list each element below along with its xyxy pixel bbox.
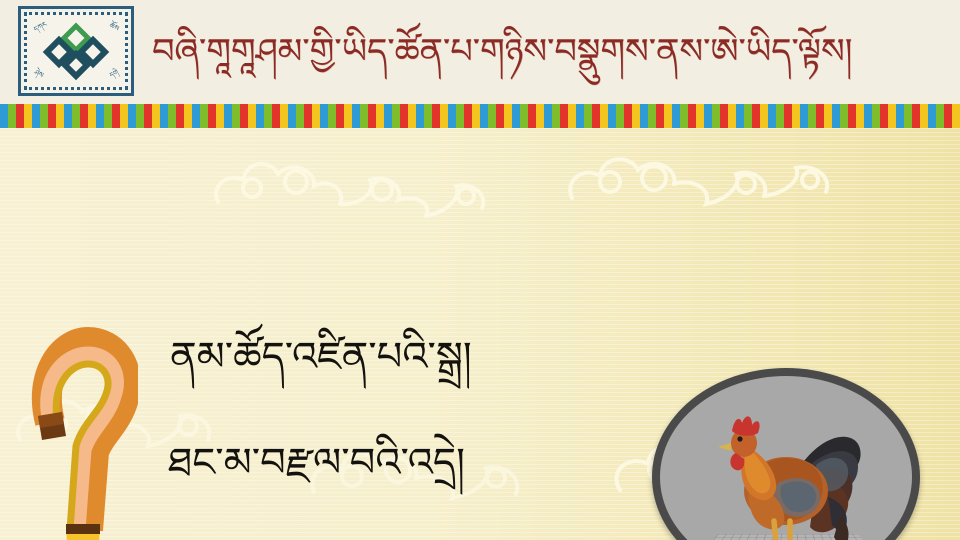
stripe-segment <box>496 104 504 128</box>
stripe-segment <box>504 104 512 128</box>
stripe-segment <box>312 104 320 128</box>
stripe-segment <box>832 104 840 128</box>
stripe-segment <box>456 104 464 128</box>
stripe-unit <box>96 104 128 128</box>
endless-knot-icon <box>41 20 111 82</box>
logo-frame: དཀར ཆོས ཤེས དགེ <box>18 6 134 96</box>
stripe-unit <box>320 104 352 128</box>
stripe-unit <box>832 104 864 128</box>
stripe-segment <box>664 104 672 128</box>
stripe-segment <box>704 104 712 128</box>
stripe-segment <box>752 104 760 128</box>
illustration-frame <box>652 368 920 540</box>
stripe-segment <box>24 104 32 128</box>
stripe-segment <box>16 104 24 128</box>
stripe-unit <box>736 104 768 128</box>
stripe-segment <box>856 104 864 128</box>
prayer-flag-stripe-border <box>0 104 960 128</box>
stripe-segment <box>200 104 208 128</box>
stripe-segment <box>424 104 432 128</box>
stripe-segment <box>264 104 272 128</box>
stripe-segment <box>104 104 112 128</box>
stripe-segment <box>96 104 104 128</box>
stripe-segment <box>296 104 304 128</box>
stripe-segment <box>736 104 744 128</box>
stripe-segment <box>520 104 528 128</box>
stripe-segment <box>80 104 88 128</box>
stripe-unit <box>160 104 192 128</box>
stripe-unit <box>672 104 704 128</box>
stripe-segment <box>792 104 800 128</box>
stripe-segment <box>376 104 384 128</box>
stripe-segment <box>384 104 392 128</box>
stripe-segment <box>584 104 592 128</box>
stripe-unit <box>768 104 800 128</box>
stripe-segment <box>760 104 768 128</box>
stripe-segment <box>568 104 576 128</box>
stripe-segment <box>440 104 448 128</box>
stripe-segment <box>880 104 888 128</box>
stripe-unit <box>544 104 576 128</box>
stripe-unit <box>800 104 832 128</box>
stripe-segment <box>56 104 64 128</box>
stripe-unit <box>288 104 320 128</box>
stripe-unit <box>512 104 544 128</box>
stripe-segment <box>8 104 16 128</box>
stripe-unit <box>704 104 736 128</box>
stripe-segment <box>448 104 456 128</box>
stripe-segment <box>896 104 904 128</box>
stripe-unit <box>224 104 256 128</box>
riddle-line-2: ཐང་མ་བརྫལ་བའི་འདྲེ། <box>168 440 465 486</box>
stripe-segment <box>872 104 880 128</box>
stripe-segment <box>408 104 416 128</box>
stripe-segment <box>152 104 160 128</box>
stripe-segment <box>784 104 792 128</box>
stripe-segment <box>40 104 48 128</box>
stripe-segment <box>144 104 152 128</box>
stripe-segment <box>368 104 376 128</box>
stripe-segment <box>328 104 336 128</box>
stripe-segment <box>624 104 632 128</box>
stripe-segment <box>72 104 80 128</box>
stripe-segment <box>904 104 912 128</box>
stripe-unit <box>608 104 640 128</box>
stripe-segment <box>944 104 952 128</box>
page-title: བཞི་གཱགཱཤམ་གྱི་ཡིད་ཚོན་པ་གཉིས་བསྣུགས་ནས་… <box>152 16 952 88</box>
stripe-segment <box>528 104 536 128</box>
stripe-segment <box>168 104 176 128</box>
stripe-segment <box>592 104 600 128</box>
stripe-segment <box>256 104 264 128</box>
stripe-segment <box>544 104 552 128</box>
stripe-unit <box>0 104 32 128</box>
stripe-segment <box>392 104 400 128</box>
stripe-segment <box>848 104 856 128</box>
stripe-segment <box>32 104 40 128</box>
stripe-segment <box>304 104 312 128</box>
stripe-segment <box>808 104 816 128</box>
stripe-unit <box>64 104 96 128</box>
stripe-segment <box>936 104 944 128</box>
stripe-segment <box>160 104 168 128</box>
stripe-segment <box>512 104 520 128</box>
slide-body: ནམ་ཚོད་འཛིན་པའི་སྒྲ། ཐང་མ་བརྫལ་བའི་འདྲེ། <box>0 128 960 540</box>
stripe-unit <box>128 104 160 128</box>
stripe-unit <box>480 104 512 128</box>
stripe-segment <box>232 104 240 128</box>
stripe-segment <box>176 104 184 128</box>
stripe-segment <box>680 104 688 128</box>
stripe-segment <box>192 104 200 128</box>
stripe-unit <box>352 104 384 128</box>
cloud-motif-top-left <box>200 146 500 222</box>
stripe-segment <box>208 104 216 128</box>
stripe-segment <box>840 104 848 128</box>
stripe-segment <box>224 104 232 128</box>
stripe-segment <box>776 104 784 128</box>
stripe-segment <box>864 104 872 128</box>
stripe-segment <box>560 104 568 128</box>
stripe-segment <box>288 104 296 128</box>
stripe-unit <box>928 104 960 128</box>
stripe-segment <box>136 104 144 128</box>
stripe-segment <box>248 104 256 128</box>
stripe-segment <box>536 104 544 128</box>
stripe-segment <box>184 104 192 128</box>
stripe-segment <box>128 104 136 128</box>
stripe-segment <box>480 104 488 128</box>
stripe-segment <box>344 104 352 128</box>
stripe-segment <box>920 104 928 128</box>
stripe-unit <box>384 104 416 128</box>
stripe-segment <box>768 104 776 128</box>
stripe-segment <box>712 104 720 128</box>
stripe-segment <box>552 104 560 128</box>
stripe-segment <box>432 104 440 128</box>
stripe-segment <box>824 104 832 128</box>
rooster-icon <box>700 387 868 540</box>
stripe-segment <box>600 104 608 128</box>
stripe-segment <box>112 104 120 128</box>
stripe-segment <box>336 104 344 128</box>
stripe-segment <box>800 104 808 128</box>
stripe-segment <box>320 104 328 128</box>
stripe-segment <box>352 104 360 128</box>
stripe-segment <box>608 104 616 128</box>
slide-root: དཀར ཆོས ཤེས དགེ <box>0 0 960 540</box>
stripe-segment <box>888 104 896 128</box>
stripe-segment <box>928 104 936 128</box>
stripe-unit <box>256 104 288 128</box>
stripe-unit <box>32 104 64 128</box>
stripe-segment <box>120 104 128 128</box>
stripe-unit <box>896 104 928 128</box>
stripe-segment <box>416 104 424 128</box>
stripe-segment <box>728 104 736 128</box>
stripe-segment <box>400 104 408 128</box>
stripe-segment <box>696 104 704 128</box>
stripe-segment <box>88 104 96 128</box>
stripe-segment <box>216 104 224 128</box>
stripe-segment <box>576 104 584 128</box>
stripe-unit <box>448 104 480 128</box>
stripe-segment <box>0 104 8 128</box>
stripe-unit <box>416 104 448 128</box>
stripe-segment <box>952 104 960 128</box>
header-band: དཀར ཆོས ཤེས དགེ <box>0 0 960 104</box>
stripe-segment <box>464 104 472 128</box>
stripe-unit <box>192 104 224 128</box>
stripe-segment <box>240 104 248 128</box>
logo-inner-frame: དཀར ཆོས ཤེས དགེ <box>24 12 128 90</box>
stripe-segment <box>64 104 72 128</box>
stripe-unit <box>864 104 896 128</box>
stripe-segment <box>688 104 696 128</box>
stripe-segment <box>48 104 56 128</box>
stripe-segment <box>816 104 824 128</box>
stripe-unit <box>640 104 672 128</box>
stripe-segment <box>912 104 920 128</box>
stripe-segment <box>488 104 496 128</box>
stripe-segment <box>360 104 368 128</box>
stripe-segment <box>744 104 752 128</box>
stripe-segment <box>640 104 648 128</box>
decorative-question-mark-pipe-icon <box>28 324 138 540</box>
stripe-segment <box>672 104 680 128</box>
stripe-segment <box>616 104 624 128</box>
stripe-segment <box>656 104 664 128</box>
stripe-segment <box>720 104 728 128</box>
stripe-segment <box>632 104 640 128</box>
cloud-motif-top-right <box>560 138 850 216</box>
stripe-segment <box>648 104 656 128</box>
riddle-line-1: ནམ་ཚོད་འཛིན་པའི་སྒྲ། <box>170 334 472 380</box>
stripe-segment <box>280 104 288 128</box>
stripe-segment <box>272 104 280 128</box>
stripe-unit <box>576 104 608 128</box>
stripe-segment <box>472 104 480 128</box>
